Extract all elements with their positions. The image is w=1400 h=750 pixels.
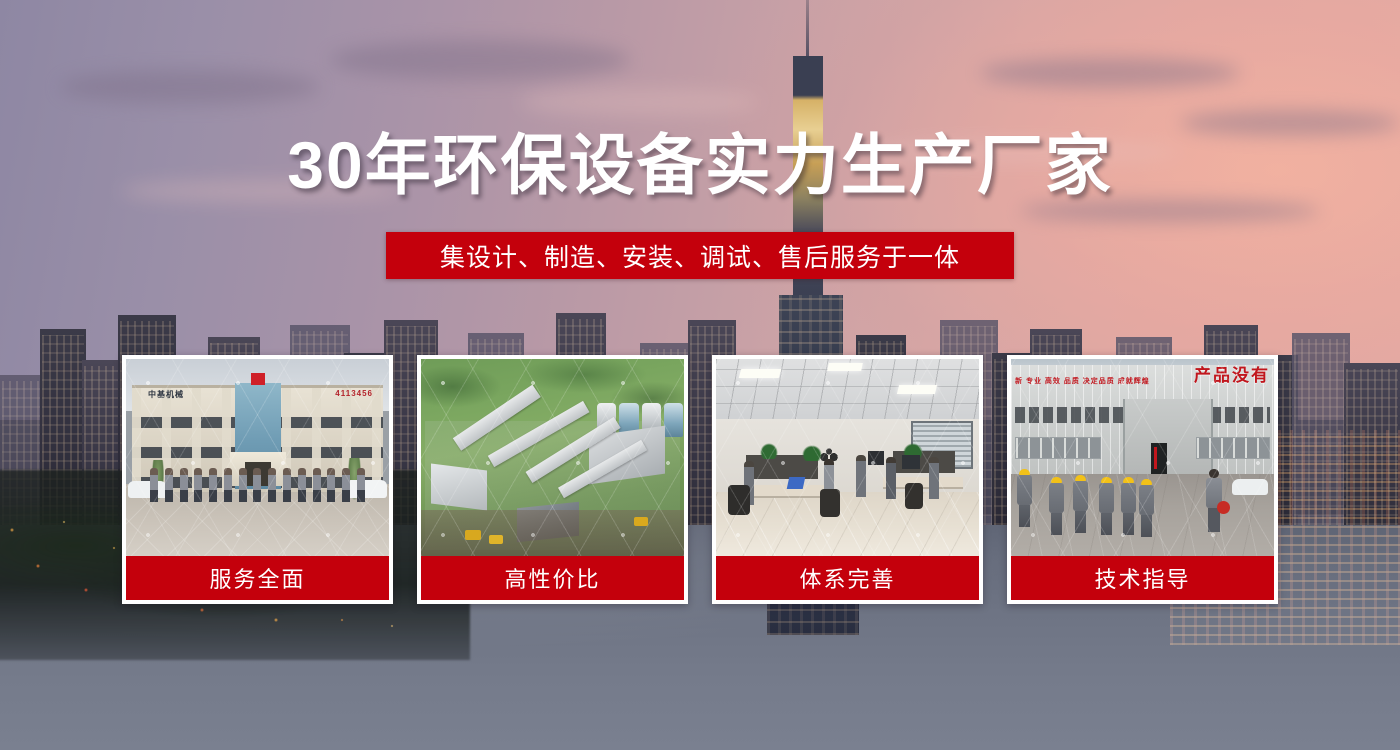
building-phone-text: 4113456: [335, 389, 373, 398]
card-caption-label: 体系完善: [799, 562, 895, 594]
hero-subtitle-text: 集设计、制造、安装、调试、售后服务于一体: [440, 238, 960, 274]
hero-banner: 30年环保设备实力生产厂家 集设计、制造、安装、调试、售后服务于一体 中基机械 …: [0, 0, 1400, 750]
card-caption-service: 服务全面: [126, 556, 389, 600]
feature-card-row: 中基机械 4113456 服务全面: [122, 355, 1278, 604]
feature-card-system[interactable]: 体系完善: [712, 355, 983, 604]
photo-factory-workers: 产品没有 新 专业 高效 品质 决定品质 成就辉煌: [1011, 359, 1274, 556]
feature-card-guidance[interactable]: 产品没有 新 专业 高效 品质 决定品质 成就辉煌: [1007, 355, 1278, 604]
card-caption-value: 高性价比: [421, 556, 684, 600]
feature-card-service[interactable]: 中基机械 4113456 服务全面: [122, 355, 393, 604]
card-caption-label: 技术指导: [1094, 562, 1190, 594]
flag-icon: [251, 373, 265, 385]
feature-card-value[interactable]: 高性价比: [417, 355, 688, 604]
ceiling-light-icon: [827, 363, 863, 371]
red-helmet-icon: [1217, 501, 1230, 514]
card-caption-label: 高性价比: [504, 562, 600, 594]
factory-slogan-small-text: 新 专业 高效 品质 决定品质 成就辉煌: [1015, 377, 1150, 388]
building-sign-text: 中基机械: [148, 389, 184, 400]
photo-office-interior: [716, 359, 979, 556]
factory-slogan-text: 产品没有: [1194, 367, 1270, 384]
card-caption-guidance: 技术指导: [1011, 556, 1274, 600]
staff-lineup: [150, 468, 365, 502]
ceiling-light-icon: [739, 369, 782, 378]
ceiling-light-icon: [897, 385, 937, 394]
hero-headline: 30年环保设备实力生产厂家: [0, 132, 1400, 198]
hero-subtitle-banner: 集设计、制造、安装、调试、售后服务于一体: [386, 232, 1014, 279]
photo-company-headquarters: 中基机械 4113456: [126, 359, 389, 556]
photo-industrial-plant: [421, 359, 684, 556]
card-caption-system: 体系完善: [716, 556, 979, 600]
card-caption-label: 服务全面: [209, 562, 305, 594]
